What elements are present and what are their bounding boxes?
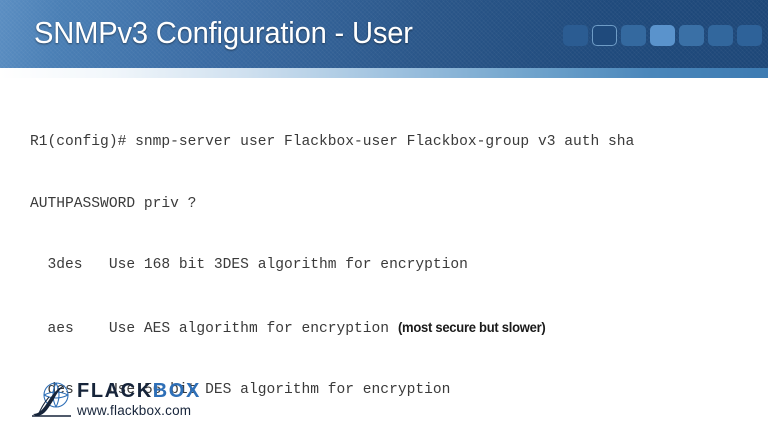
square-2 [592,25,617,46]
flackbox-bridge-icon [31,380,77,420]
logo-brand-first: FLACK [77,380,153,402]
cli-option-aes-text: aes Use AES algorithm for encryption [30,321,398,337]
bridge-arc-shape [33,385,65,416]
slide-header: SNMPv3 Configuration - User [0,0,768,68]
header-decorative-squares [563,25,762,46]
logo-wordmark: FLACKBOX www.flackbox.com [77,381,201,419]
square-5 [679,25,704,46]
logo-brand-second: BOX [153,380,201,402]
square-7 [737,25,762,46]
logo-url: www.flackbox.com [77,403,201,419]
header-underline-gradient [0,68,768,78]
cli-line-option-aes: aes Use AES algorithm for encryption (mo… [30,317,740,340]
square-3 [621,25,646,46]
cli-line-command-1: R1(config)# snmp-server user Flackbox-us… [30,132,740,153]
square-1 [563,25,588,46]
flackbox-logo: FLACKBOX www.flackbox.com [31,378,231,422]
annotation-most-secure: (most secure but slower) [398,317,545,338]
square-4 [650,25,675,46]
cli-line-option-3des: 3des Use 168 bit 3DES algorithm for encr… [30,255,740,276]
cli-output-block: R1(config)# snmp-server user Flackbox-us… [30,91,740,421]
cli-line-command-2: AUTHPASSWORD priv ? [30,194,740,215]
square-6 [708,25,733,46]
logo-brand: FLACKBOX [77,381,201,402]
page-title: SNMPv3 Configuration - User [34,13,413,53]
